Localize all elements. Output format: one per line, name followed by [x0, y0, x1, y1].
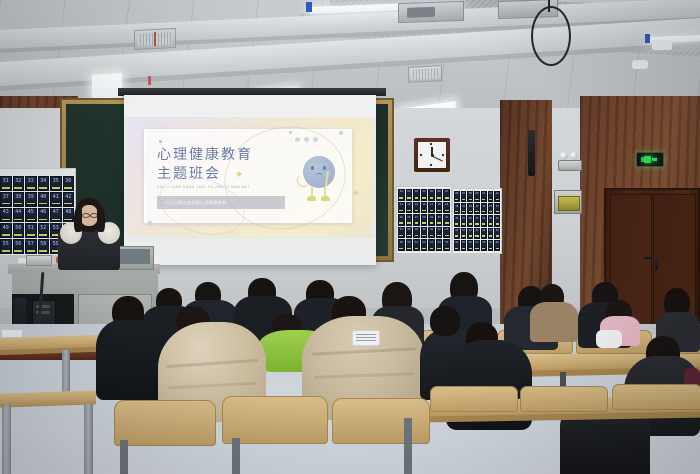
podium-papers	[18, 258, 26, 263]
locker-cell[interactable]: 46	[38, 208, 50, 223]
locker-number: 60	[495, 242, 499, 244]
locker-cell[interactable]: 19	[443, 202, 450, 214]
locker-number: 37	[1, 195, 11, 200]
exit-arrow-icon	[652, 158, 657, 161]
locker-cell[interactable]: 32	[467, 215, 473, 226]
locker-strip	[14, 219, 22, 221]
locker-number: 28	[422, 217, 427, 220]
locker-cell[interactable]: 23	[488, 203, 494, 214]
locker-strip	[64, 187, 72, 189]
locker-strip	[489, 199, 492, 201]
locker-number: 41	[429, 229, 434, 232]
locker-cell[interactable]: 02	[406, 189, 413, 201]
locker-number: 37	[399, 229, 404, 232]
locker-cell[interactable]: 27	[413, 214, 420, 226]
locker-strip	[482, 199, 485, 201]
student-torso-tan	[530, 302, 578, 342]
locker-strip	[469, 223, 472, 225]
locker-strip	[430, 210, 434, 212]
locker-strip	[422, 235, 426, 237]
locker-strip	[489, 223, 492, 225]
locker-strip	[445, 210, 449, 212]
locker-strip	[430, 222, 434, 224]
locker-number: 30	[455, 218, 459, 220]
locker-number: 51	[26, 226, 36, 231]
locker-cell[interactable]: 60	[494, 240, 500, 251]
locker-strip	[469, 211, 472, 213]
locker-cell[interactable]: 20	[467, 203, 473, 214]
locker-strip	[475, 223, 478, 225]
locker-strip	[27, 250, 35, 252]
locker-strip	[39, 187, 47, 189]
locker-cell[interactable]: 26	[406, 214, 413, 226]
locker-cell[interactable]: 51	[413, 239, 420, 251]
locker-cell[interactable]: 28	[421, 214, 428, 226]
locker-cell[interactable]: 55	[443, 239, 450, 251]
locker-cell[interactable]: 33	[25, 176, 37, 191]
locker-number: 44	[468, 230, 472, 232]
locker-number: 58	[482, 242, 486, 244]
lecture-chair[interactable]	[612, 384, 700, 410]
locker-cell[interactable]: 48	[494, 228, 500, 239]
locker-strip	[496, 223, 499, 225]
locker-cell[interactable]: 29	[428, 214, 435, 226]
locker-cell[interactable]: 18	[454, 203, 460, 214]
locker-strip	[2, 250, 10, 252]
locker-cell[interactable]: 44	[13, 208, 25, 223]
locker-strip	[430, 235, 434, 237]
locker-cell[interactable]: 16	[421, 202, 428, 214]
locker-strip	[437, 248, 441, 250]
locker-strip	[14, 187, 22, 189]
locker-strip	[489, 211, 492, 213]
locker-strip	[462, 248, 465, 250]
locker-cell[interactable]: 47	[488, 228, 494, 239]
locker-number: 07	[462, 193, 466, 195]
clock-mark	[430, 164, 432, 166]
locker-strip	[469, 235, 472, 237]
lecture-chair[interactable]	[520, 386, 608, 412]
locker-number: 36	[64, 179, 74, 184]
locker-strip	[482, 223, 485, 225]
locker-cell[interactable]: 49	[398, 239, 405, 251]
locker-number: 39	[26, 195, 36, 200]
clock-face	[418, 142, 446, 168]
locker-cell[interactable]: 33	[474, 215, 480, 226]
lecture-chair[interactable]	[114, 400, 216, 446]
locker-number: 43	[444, 229, 449, 232]
locker-number: 06	[437, 191, 442, 194]
exit-sign	[636, 152, 664, 167]
locker-strip	[422, 248, 426, 250]
locker-number: 35	[51, 179, 61, 184]
locker-cell[interactable]: 39	[25, 192, 37, 207]
locker-number: 54	[455, 242, 459, 244]
presenter-speaker	[58, 198, 120, 268]
lecture-chair[interactable]	[332, 398, 430, 444]
locker-strip	[462, 199, 465, 201]
locker-number: 31	[444, 217, 449, 220]
locker-number: 22	[482, 206, 486, 208]
phone-locker-right-b[interactable]: 0607080910111218192021222324303132333435…	[452, 188, 502, 254]
locker-cell[interactable]: 09	[474, 191, 480, 202]
student-white-bag	[596, 330, 622, 348]
locker-cell[interactable]: 50	[13, 223, 25, 238]
locker-number: 57	[26, 242, 36, 247]
locker-strip	[415, 197, 419, 199]
electrical-panel[interactable]	[554, 190, 582, 214]
locker-strip	[27, 219, 35, 221]
locker-strip	[415, 210, 419, 212]
locker-number: 19	[444, 204, 449, 207]
locker-number: 24	[495, 206, 499, 208]
locker-number: 50	[14, 226, 24, 231]
locker-cell[interactable]: 17	[428, 202, 435, 214]
locker-cell[interactable]: 32	[13, 176, 25, 191]
locker-number: 51	[414, 242, 419, 245]
locker-strip	[430, 197, 434, 199]
locker-strip	[422, 222, 426, 224]
locker-number: 46	[39, 210, 49, 215]
hanging-cable	[548, 0, 550, 12]
locker-cell[interactable]: 13	[398, 202, 405, 214]
locker-cell[interactable]: 41	[428, 227, 435, 239]
locker-cell[interactable]: 25	[398, 214, 405, 226]
locker-strip	[27, 234, 35, 236]
locker-strip	[489, 235, 492, 237]
locker-cell[interactable]: 50	[406, 239, 413, 251]
locker-number: 49	[399, 242, 404, 245]
locker-number: 48	[495, 230, 499, 232]
locker-strip	[399, 210, 403, 212]
locker-number: 11	[489, 193, 493, 195]
student-head	[430, 306, 460, 336]
locker-strip	[489, 248, 492, 250]
locker-cell[interactable]: 56	[13, 239, 25, 254]
locker-strip	[407, 235, 411, 237]
locker-strip	[39, 203, 47, 205]
presenter-glasses	[82, 213, 90, 218]
locker-cell[interactable]: 34	[481, 215, 487, 226]
locker-cell[interactable]: 57	[474, 240, 480, 251]
locker-strip	[437, 197, 441, 199]
locker-strip	[462, 223, 465, 225]
locker-strip	[399, 248, 403, 250]
locker-cell[interactable]: 54	[454, 240, 460, 251]
locker-cell[interactable]: 31	[443, 214, 450, 226]
presenter-face	[80, 205, 98, 226]
locker-number: 23	[489, 206, 493, 208]
locker-number: 57	[475, 242, 479, 244]
locker-cell[interactable]: 14	[406, 202, 413, 214]
locker-strip	[496, 235, 499, 237]
locker-cell[interactable]: 22	[481, 203, 487, 214]
locker-number: 26	[407, 217, 412, 220]
locker-cell[interactable]: 55	[0, 239, 12, 254]
emergency-light	[558, 160, 582, 171]
hanging-cable-loop	[531, 6, 571, 66]
locker-strip	[399, 235, 403, 237]
locker-number: 20	[468, 206, 472, 208]
locker-number: 03	[414, 191, 419, 194]
locker-number: 42	[455, 230, 459, 232]
clock-mark	[420, 154, 422, 156]
locker-strip	[422, 197, 426, 199]
locker-strip	[462, 211, 465, 213]
desk-leg	[2, 404, 11, 474]
locker-number: 31	[1, 179, 11, 184]
locker-strip	[27, 203, 35, 205]
locker-cell[interactable]: 52	[421, 239, 428, 251]
locker-cell[interactable]: 45	[25, 208, 37, 223]
locker-cell[interactable]: 58	[481, 240, 487, 251]
locker-cell[interactable]: 05	[428, 189, 435, 201]
desk-leg	[84, 404, 93, 474]
locker-strip	[475, 211, 478, 213]
locker-strip	[2, 187, 10, 189]
locker-number: 38	[14, 195, 24, 200]
locker-strip	[475, 235, 478, 237]
locker-strip	[27, 187, 35, 189]
locker-number: 18	[455, 206, 459, 208]
locker-number: 55	[1, 242, 11, 247]
locker-strip	[2, 203, 10, 205]
slide-dot	[339, 131, 343, 135]
locker-cell[interactable]: 37	[398, 227, 405, 239]
locker-strip	[469, 248, 472, 250]
locker-number: 34	[39, 179, 49, 184]
locker-number: 43	[1, 210, 11, 215]
locker-cell[interactable]: 31	[0, 176, 12, 191]
puffer-seam	[166, 359, 258, 368]
locker-cell[interactable]: 30	[454, 215, 460, 226]
locker-strip	[14, 203, 22, 205]
puffer-seam	[314, 372, 414, 378]
phone-locker-right-a[interactable]: 0102030405060713141516171819252627282930…	[396, 186, 452, 254]
locker-number: 25	[399, 217, 404, 220]
locker-number: 50	[407, 242, 412, 245]
screen-blank-bottom	[124, 239, 376, 265]
locker-number: 33	[475, 218, 479, 220]
locker-cell[interactable]: 36	[63, 176, 75, 191]
locker-cell[interactable]: 39	[413, 227, 420, 239]
locker-strip	[496, 211, 499, 213]
locker-cell[interactable]: 21	[474, 203, 480, 214]
locker-cell[interactable]: 35	[50, 176, 62, 191]
locker-cell[interactable]: 19	[461, 203, 467, 214]
locker-number: 04	[422, 191, 427, 194]
locker-cell[interactable]: 46	[481, 228, 487, 239]
locker-cell[interactable]: 11	[488, 191, 494, 202]
locker-strip	[2, 234, 10, 236]
locker-cell[interactable]: 18	[436, 202, 443, 214]
locker-number: 15	[414, 204, 419, 207]
locker-strip	[415, 222, 419, 224]
locker-cell[interactable]: 36	[494, 215, 500, 226]
locker-strip	[482, 211, 485, 213]
locker-number: 42	[437, 229, 442, 232]
locker-cell[interactable]: 56	[467, 240, 473, 251]
locker-number: 38	[407, 229, 412, 232]
locker-cell[interactable]: 37	[0, 192, 12, 207]
puffer-seam	[168, 382, 256, 390]
presenter-hair-side	[74, 208, 82, 232]
locker-number: 54	[437, 242, 442, 245]
locker-cell[interactable]: 07	[461, 191, 467, 202]
slide-dot	[159, 140, 162, 143]
locker-number: 36	[495, 218, 499, 220]
locker-number: 43	[462, 230, 466, 232]
slide-sparkle-icon	[353, 190, 359, 196]
locker-cell[interactable]: 54	[436, 239, 443, 251]
locker-number: 32	[14, 179, 24, 184]
locker-cell[interactable]: 43	[443, 227, 450, 239]
locker-strip	[399, 197, 403, 199]
chair-leg	[404, 418, 412, 474]
locker-number: 07	[444, 191, 449, 194]
podium-keyboard[interactable]	[26, 255, 52, 266]
locker-cell[interactable]: 44	[467, 228, 473, 239]
ceiling-sensor	[632, 60, 648, 69]
ceiling-projector	[398, 1, 464, 23]
locker-strip	[496, 199, 499, 201]
door-handle[interactable]	[644, 256, 652, 259]
locker-strip	[482, 248, 485, 250]
wall-clock	[414, 138, 450, 172]
locker-number: 35	[489, 218, 493, 220]
locker-strip	[437, 235, 441, 237]
locker-number: 08	[468, 193, 472, 195]
locker-cell[interactable]: 52	[38, 223, 50, 238]
locker-strip	[430, 248, 434, 250]
locker-number: 01	[399, 191, 404, 194]
locker-number: 58	[39, 242, 49, 247]
locker-number: 46	[482, 230, 486, 232]
screen-blank-top	[124, 95, 376, 117]
locker-cell[interactable]: 24	[494, 203, 500, 214]
locker-cell[interactable]: 08	[467, 191, 473, 202]
locker-cell[interactable]: 12	[494, 191, 500, 202]
locker-cell[interactable]: 42	[436, 227, 443, 239]
clock-center	[431, 154, 434, 157]
locker-strip	[445, 197, 449, 199]
locker-strip	[415, 235, 419, 237]
locker-number: 45	[26, 210, 36, 215]
locker-strip	[399, 222, 403, 224]
locker-number: 19	[462, 206, 466, 208]
locker-cell[interactable]: 53	[428, 239, 435, 251]
desk-papers	[2, 330, 22, 337]
locker-cell[interactable]: 01	[398, 189, 405, 201]
locker-strip	[445, 248, 449, 250]
locker-cell[interactable]: 38	[13, 192, 25, 207]
locker-strip	[445, 235, 449, 237]
locker-cell[interactable]: 38	[406, 227, 413, 239]
chair-leg	[232, 438, 240, 474]
presenter-hair-side	[97, 208, 105, 232]
locker-cell[interactable]: 30	[436, 214, 443, 226]
projection-screen[interactable]: 心理健康教育 主题班会 XIN LI JIAN KANG JIAO YU ZHU…	[124, 95, 376, 265]
locker-number: 17	[429, 204, 434, 207]
locker-cell[interactable]: 51	[25, 223, 37, 238]
locker-strip	[2, 219, 10, 221]
locker-cell[interactable]: 03	[413, 189, 420, 201]
locker-cell[interactable]: 10	[481, 191, 487, 202]
locker-number: 32	[468, 218, 472, 220]
locker-cell[interactable]: 15	[413, 202, 420, 214]
ceiling-fitting	[148, 76, 151, 85]
lecture-chair[interactable]	[222, 396, 328, 444]
locker-number: 39	[414, 229, 419, 232]
wall-speaker	[528, 130, 535, 176]
locker-cell[interactable]: 07	[443, 189, 450, 201]
locker-number: 52	[39, 226, 49, 231]
locker-cell[interactable]: 43	[461, 228, 467, 239]
locker-number: 27	[414, 217, 419, 220]
locker-cell[interactable]: 58	[38, 239, 50, 254]
classroom-scene: 心理健康教育 主题班会 XIN LI JIAN KANG JIAO YU ZHU…	[0, 0, 700, 474]
locker-cell[interactable]: 55	[461, 240, 467, 251]
locker-number: 06	[455, 193, 459, 195]
locker-cell[interactable]: 49	[0, 223, 12, 238]
locker-cell[interactable]: 40	[38, 192, 50, 207]
locker-strip	[415, 248, 419, 250]
clock-mark	[442, 154, 444, 156]
locker-number: 34	[482, 218, 486, 220]
chair-leg	[120, 440, 128, 474]
locker-number: 47	[489, 230, 493, 232]
locker-cell[interactable]: 43	[0, 208, 12, 223]
locker-cell[interactable]: 40	[421, 227, 428, 239]
locker-number: 12	[495, 193, 499, 195]
locker-number: 55	[444, 242, 449, 245]
locker-cell[interactable]: 45	[474, 228, 480, 239]
ceiling-air-vent	[134, 28, 176, 50]
locker-number: 13	[399, 204, 404, 207]
locker-cell[interactable]: 42	[454, 228, 460, 239]
locker-strip	[455, 235, 458, 237]
locker-cell[interactable]: 04	[421, 189, 428, 201]
locker-strip	[445, 222, 449, 224]
locker-cell[interactable]: 35	[488, 215, 494, 226]
locker-number: 09	[475, 193, 479, 195]
locker-strip	[475, 199, 478, 201]
locker-strip	[475, 248, 478, 250]
clock-mark	[430, 143, 432, 145]
locker-strip	[455, 199, 458, 201]
locker-strip	[422, 210, 426, 212]
locker-cell[interactable]: 06	[436, 189, 443, 201]
locker-number: 14	[407, 204, 412, 207]
locker-strip	[469, 199, 472, 201]
locker-cell[interactable]: 34	[38, 176, 50, 191]
locker-cell[interactable]: 59	[488, 240, 494, 251]
locker-cell[interactable]: 06	[454, 191, 460, 202]
locker-number: 56	[14, 242, 24, 247]
locker-number: 10	[482, 193, 486, 195]
locker-number: 52	[422, 242, 427, 245]
locker-strip	[455, 248, 458, 250]
locker-strip	[455, 223, 458, 225]
locker-number: 44	[14, 210, 24, 215]
light-bracket	[306, 2, 312, 12]
locker-cell[interactable]: 57	[25, 239, 37, 254]
lecture-chair[interactable]	[430, 386, 518, 412]
locker-strip	[407, 248, 411, 250]
locker-cell[interactable]: 31	[461, 215, 467, 226]
locker-number: 40	[422, 229, 427, 232]
door-lock[interactable]	[655, 256, 658, 270]
